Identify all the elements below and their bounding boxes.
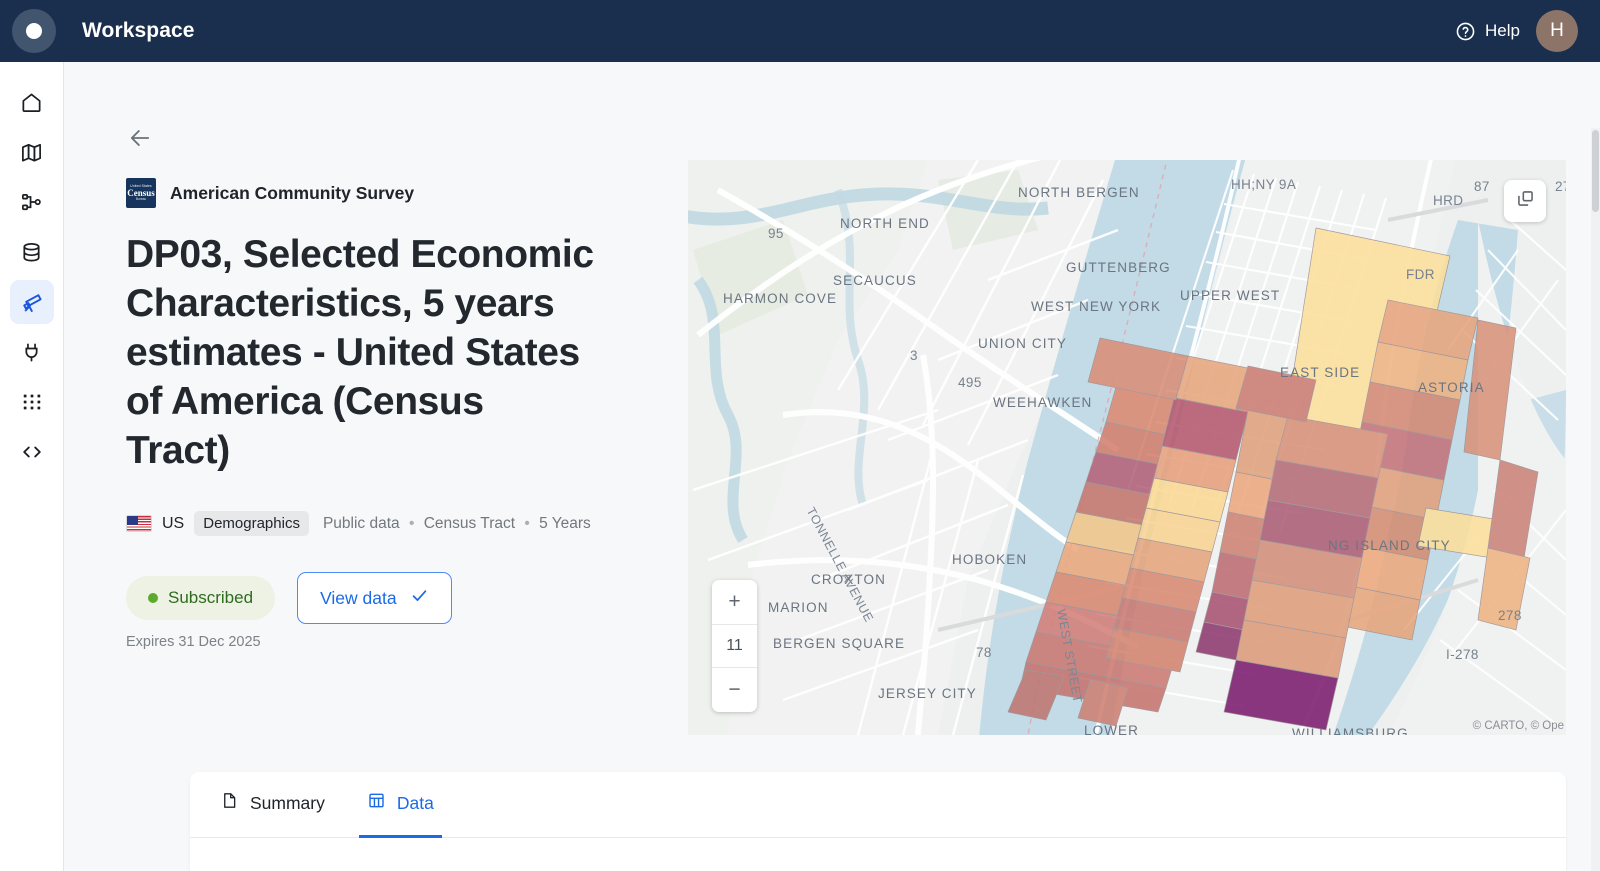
top-bar-right: Help H xyxy=(1455,10,1578,52)
map-label-place: HARMON COVE xyxy=(723,291,837,306)
access-type: Public data xyxy=(323,515,400,532)
country-code: US xyxy=(162,515,184,533)
time-period: 5 Years xyxy=(539,515,591,532)
category-badge: Demographics xyxy=(194,511,309,536)
avatar-initial: H xyxy=(1550,20,1564,42)
map-label-road: 95 xyxy=(768,226,784,241)
map-label-road: 278 xyxy=(1498,608,1522,623)
map-label-place: WILLIAMSBURG xyxy=(1292,726,1409,735)
help-icon xyxy=(1455,21,1476,42)
back-button[interactable] xyxy=(126,124,156,154)
us-flag-icon xyxy=(126,515,152,532)
check-icon xyxy=(410,586,429,610)
census-bureau-logo-icon: United States Census Bureau xyxy=(126,178,156,208)
help-label: Help xyxy=(1485,21,1520,41)
source-row: United States Census Bureau American Com… xyxy=(126,178,626,208)
map-label-place: UPPER WEST xyxy=(1180,288,1280,303)
data-sample-header: Data sample TOTAL 85,381 ROWS • 276 COLU… xyxy=(190,838,1566,871)
workspace-logo[interactable] xyxy=(12,9,56,53)
attribution-carto: © CARTO xyxy=(1473,720,1525,732)
map-label-place: NG ISLAND CITY xyxy=(1328,538,1451,553)
sidebar-item-data-warehouse[interactable] xyxy=(10,230,54,274)
page-title: DP03, Selected Economic Characteristics,… xyxy=(126,230,596,475)
zoom-out-button[interactable]: − xyxy=(712,668,757,712)
map-label-place: WEEHAWKEN xyxy=(993,395,1092,410)
map-label-road: HRD xyxy=(1433,193,1463,208)
map-label-place: SECAUCUS xyxy=(833,273,917,288)
tab-data[interactable]: Data xyxy=(359,772,442,838)
map-label-place: JERSEY CITY xyxy=(878,686,977,701)
document-icon xyxy=(220,791,239,815)
sidebar-item-data-observatory[interactable] xyxy=(10,280,54,324)
census-logo-top: United States xyxy=(130,185,152,188)
map-label-place: EAST SIDE xyxy=(1280,365,1360,380)
sidebar-item-home[interactable] xyxy=(10,80,54,124)
sidebar-item-apps[interactable] xyxy=(10,380,54,424)
sidebar-item-developers[interactable] xyxy=(10,430,54,474)
avatar[interactable]: H xyxy=(1536,10,1578,52)
workspace-title: Workspace xyxy=(82,19,195,43)
map-label-place: MARION xyxy=(768,600,829,615)
meta-separator-1: • xyxy=(409,515,414,532)
map-label-road: 495 xyxy=(958,375,982,390)
metadata-details: Public data • Census Tract • 5 Years xyxy=(323,515,591,533)
status-badge[interactable]: Subscribed xyxy=(126,576,275,620)
map-label-road: 3 xyxy=(910,348,918,363)
sidebar-item-connections[interactable] xyxy=(10,330,54,374)
layers-icon xyxy=(1515,188,1536,214)
map-label-road: 78 xyxy=(976,645,992,660)
vertical-scrollbar-track[interactable] xyxy=(1591,128,1600,871)
tab-summary-label: Summary xyxy=(250,793,325,814)
map-label-place: HOBOKEN xyxy=(952,552,1027,567)
map-label-place: LOWER xyxy=(1084,723,1139,735)
map-label-place: UNION CITY xyxy=(978,336,1067,351)
panel-tabs: Summary Data xyxy=(190,772,1566,838)
table-icon xyxy=(367,791,386,815)
sidebar-item-workflows[interactable] xyxy=(10,180,54,224)
metadata-row: US Demographics Public data • Census Tra… xyxy=(126,511,626,536)
map-label-place: BERGEN SQUARE xyxy=(773,636,905,651)
logo-dot-icon xyxy=(26,23,42,39)
map-label-road: HH;NY 9A xyxy=(1231,177,1296,192)
tab-summary[interactable]: Summary xyxy=(212,772,333,838)
data-panel: Summary Data Data sample TOTAL 85, xyxy=(190,772,1566,871)
action-row: Subscribed View data xyxy=(126,572,626,624)
dataset-detail: United States Census Bureau American Com… xyxy=(126,124,626,650)
expires-label: Expires 31 Dec 2025 xyxy=(126,634,626,650)
map-label-road: 278 xyxy=(1555,179,1566,194)
attribution-osm: © Ope xyxy=(1531,720,1564,732)
map-label-road: FDR xyxy=(1406,267,1435,282)
help-button[interactable]: Help xyxy=(1455,21,1520,42)
source-name: American Community Survey xyxy=(170,183,414,204)
map-label-place: WEST NEW YORK xyxy=(1031,299,1161,314)
app-root: Workspace Help H xyxy=(0,0,1600,871)
status-label: Subscribed xyxy=(168,588,253,608)
meta-separator-2: • xyxy=(524,515,529,532)
status-dot-icon xyxy=(148,593,158,603)
sidebar-item-maps[interactable] xyxy=(10,130,54,174)
map-label-road: 87 xyxy=(1474,179,1490,194)
map-label-place: NORTH BERGEN xyxy=(1018,185,1140,200)
zoom-in-button[interactable]: + xyxy=(712,580,757,624)
map-label-place: ASTORIA xyxy=(1418,380,1485,395)
map-attribution[interactable]: © CARTO, © Ope xyxy=(1473,720,1564,732)
top-bar: Workspace Help H xyxy=(0,0,1600,62)
census-logo-bottom: Bureau xyxy=(136,198,146,201)
map-preview[interactable]: NORTH BERGEN NORTH END GUTTENBERG SECAUC… xyxy=(688,160,1566,735)
map-label-place: GUTTENBERG xyxy=(1066,260,1171,275)
map-zoom-control: + 11 − xyxy=(712,580,757,712)
main-content: United States Census Bureau American Com… xyxy=(64,62,1600,871)
map-label-road: I-278 xyxy=(1446,647,1479,662)
view-data-label: View data xyxy=(320,588,397,609)
map-layers-button[interactable] xyxy=(1504,180,1546,222)
map-label-place: NORTH END xyxy=(840,216,930,231)
view-data-button[interactable]: View data xyxy=(297,572,452,624)
geography-level: Census Tract xyxy=(424,515,515,532)
sidebar xyxy=(0,62,64,871)
tab-data-label: Data xyxy=(397,793,434,814)
vertical-scrollbar-thumb[interactable] xyxy=(1592,130,1599,212)
zoom-level-value: 11 xyxy=(712,624,757,668)
